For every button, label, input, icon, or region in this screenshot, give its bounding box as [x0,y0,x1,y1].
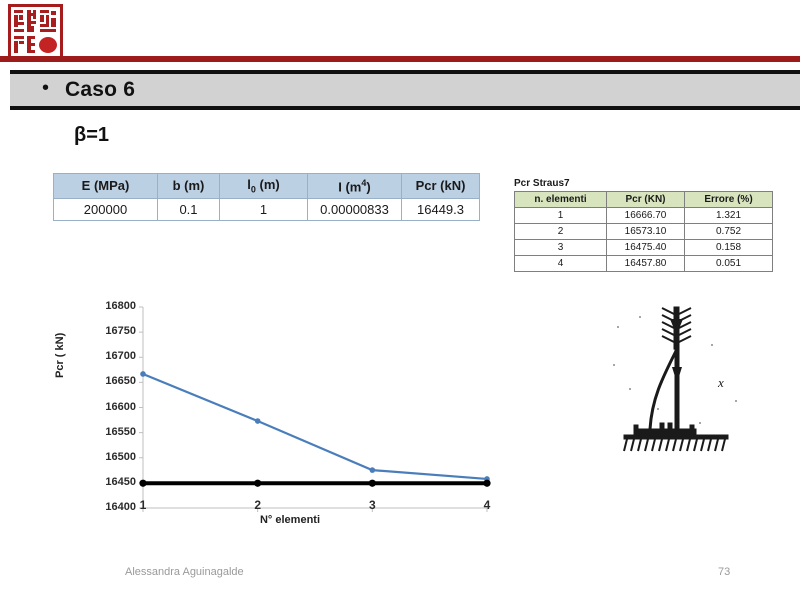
col-header-i: I (m4) [308,174,402,199]
chart-data-point [483,480,490,487]
straus7-table: n. elementi Pcr (KN) Errore (%) 1 16666.… [514,191,773,272]
cell-pcr: 16666.70 [607,208,685,224]
chart-x-tick-label: 4 [472,498,502,512]
accent-rule [0,56,800,62]
chart-y-tick-label: 16500 [80,451,136,463]
table-row: 200000 0.1 1 0.00000833 16449.3 [54,198,480,220]
straus7-caption: Pcr Straus7 [514,178,773,189]
cell-errore: 1.321 [685,208,773,224]
column-diagram-icon: x [600,305,760,465]
l0-subscript: 0 [251,185,256,195]
col-header-b: b (m) [158,174,220,199]
cell-pcr: 16449.3 [402,198,480,220]
chart-y-tick-label: 16650 [80,375,136,387]
col-header-pcr: Pcr (kN) [402,174,480,199]
chart-data-point [255,418,261,424]
chart-y-tick-label: 16600 [80,401,136,413]
cell-pcr: 16457.80 [607,256,685,272]
cell-pcr: 16475.40 [607,240,685,256]
col-header-pcr-kn: Pcr (KN) [607,192,685,208]
cell-errore: 0.158 [685,240,773,256]
chart-data-point [139,480,146,487]
table-row: 1 16666.70 1.321 [515,208,773,224]
cell-pcr: 16573.10 [607,224,685,240]
sketch-axis-label: x [717,375,724,390]
table-row: 4 16457.80 0.051 [515,256,773,272]
chart-y-axis-label: Pcr ( kN) [54,333,66,378]
slide-canvas: • Caso 6 β=1 E (MPa) b (m) l0 (m) I (m4)… [0,0,800,600]
chart-x-tick-label: 2 [243,498,273,512]
col-header-errore: Errore (%) [685,192,773,208]
cell-i: 0.00000833 [308,198,402,220]
chart-data-point [369,480,376,487]
m4-superscript: 4 [361,178,366,188]
table-header-row: n. elementi Pcr (KN) Errore (%) [515,192,773,208]
cell-errore: 0.051 [685,256,773,272]
chart-y-tick-label: 16800 [80,300,136,312]
chart-y-tick-label: 16750 [80,325,136,337]
straus7-table-block: Pcr Straus7 n. elementi Pcr (KN) Errore … [514,178,773,272]
cell-b: 0.1 [158,198,220,220]
table-row: 2 16573.10 0.752 [515,224,773,240]
chart-data-point [140,371,146,377]
parameters-table: E (MPa) b (m) l0 (m) I (m4) Pcr (kN) 200… [53,173,480,221]
seal-glyph-icon [11,7,60,56]
cell-l0: 1 [220,198,308,220]
table-header-row: E (MPa) b (m) l0 (m) I (m4) Pcr (kN) [54,174,480,199]
chart-y-tick-label: 16550 [80,426,136,438]
slide-title-bar: • Caso 6 [10,70,800,110]
subtitle-beta: β=1 [74,124,109,147]
col-header-e: E (MPa) [54,174,158,199]
cell-n: 1 [515,208,607,224]
cell-n: 3 [515,240,607,256]
convergence-chart: Pcr ( kN) N° elementi 164001645016500165… [60,292,520,542]
footer-author: Alessandra Aguinagalde [125,566,244,578]
chart-series-line [143,374,487,479]
cell-n: 4 [515,256,607,272]
buckling-column-sketch: x [600,305,760,465]
chart-x-tick-label: 3 [357,498,387,512]
col-header-l0: l0 (m) [220,174,308,199]
footer-page-number: 73 [718,566,730,578]
chart-y-tick-label: 16450 [80,476,136,488]
red-seal-stamp-logo [8,4,63,59]
table-row: 3 16475.40 0.158 [515,240,773,256]
bullet-icon: • [42,78,49,98]
chart-data-point [254,480,261,487]
chart-x-axis-label: N° elementi [60,514,520,526]
chart-y-tick-label: 16700 [80,350,136,362]
col-header-n-elementi: n. elementi [515,192,607,208]
cell-e: 200000 [54,198,158,220]
page-title: Caso 6 [65,78,135,102]
chart-x-tick-label: 1 [128,498,158,512]
cell-errore: 0.752 [685,224,773,240]
cell-n: 2 [515,224,607,240]
chart-data-point [370,467,376,473]
